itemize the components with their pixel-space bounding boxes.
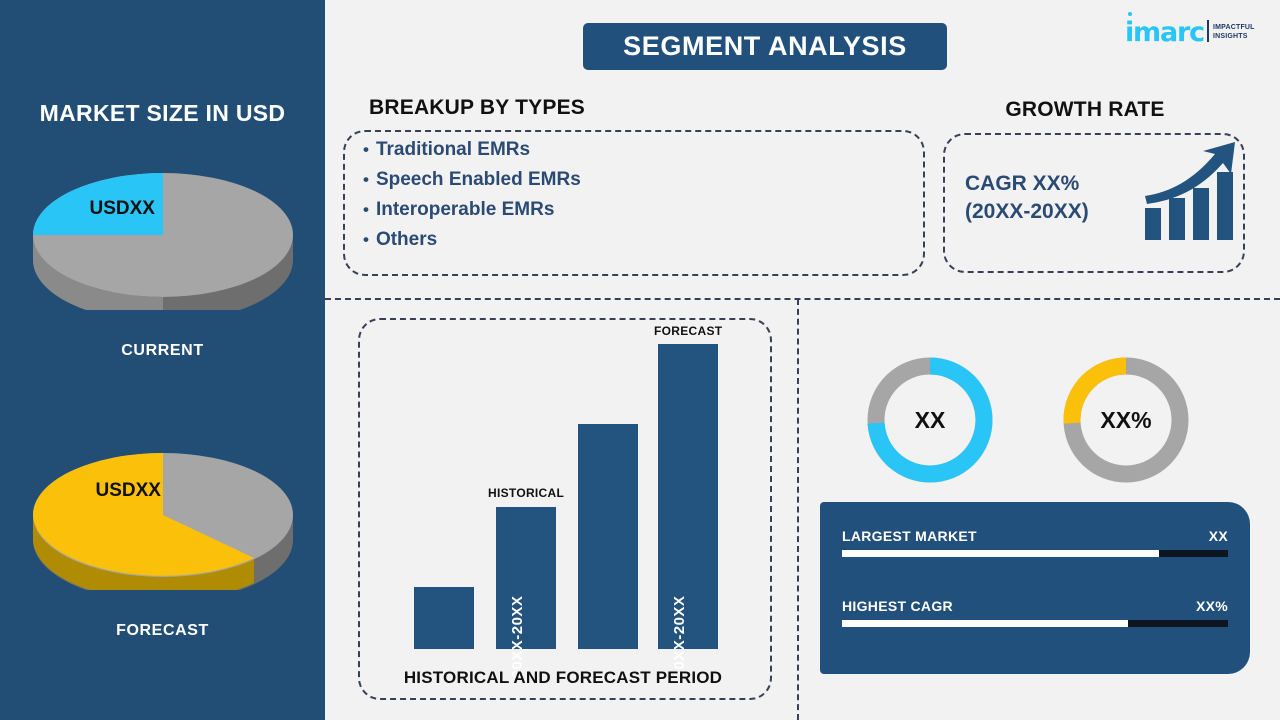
list-item-label: Speech Enabled EMRs (376, 170, 581, 189)
forecast-pie-label: FORECAST (0, 622, 325, 640)
bar-4-period-label: 20XX-20XX (671, 596, 688, 679)
bullet-icon: • (363, 231, 369, 248)
vertical-divider (797, 299, 799, 720)
list-item: • Speech Enabled EMRs (363, 170, 903, 189)
breakup-heading: BREAKUP BY TYPES (369, 96, 585, 120)
market-size-panel: MARKET SIZE IN USD USDXX CURRENT (0, 0, 325, 720)
logo-word: imarc (1125, 19, 1204, 46)
bullet-icon: • (363, 141, 369, 158)
bullet-icon: • (363, 171, 369, 188)
growth-share-donut-value: XX% (1058, 352, 1194, 488)
list-item-label: Traditional EMRs (376, 140, 530, 159)
list-item-label: Others (376, 230, 437, 249)
current-pie-group: USDXX CURRENT (0, 160, 325, 360)
bar-1 (414, 587, 474, 649)
market-share-donut-value: XX (862, 352, 998, 488)
stat-largest-market-track (842, 550, 1228, 557)
bar-3 (578, 424, 638, 649)
logo-tagline-line2: INSIGHTS (1213, 32, 1255, 41)
market-share-donut: XX (862, 352, 998, 488)
growth-rate-heading: GROWTH RATE (925, 98, 1245, 122)
imarc-logo: imarc IMPACTFUL INSIGHTS (1125, 12, 1270, 52)
current-pie-chart: USDXX (28, 160, 298, 310)
forecast-pie-group: USDXX FORECAST (0, 440, 325, 640)
current-pie-label: CURRENT (0, 342, 325, 360)
segment-analysis-infographic: MARKET SIZE IN USD USDXX CURRENT (0, 0, 1280, 720)
stat-largest-market: LARGEST MARKET XX (842, 528, 1228, 557)
cagr-period: (20XX-20XX) (965, 198, 1145, 226)
stat-largest-market-label: LARGEST MARKET (842, 528, 977, 544)
stat-highest-cagr: HIGHEST CAGR XX% (842, 598, 1228, 627)
list-item: • Traditional EMRs (363, 140, 903, 159)
growth-arrow-chart-icon (1143, 140, 1243, 250)
growth-share-donut: XX% (1058, 352, 1194, 488)
market-size-title: MARKET SIZE IN USD (0, 100, 325, 127)
page-title: SEGMENT ANALYSIS (583, 23, 947, 70)
horizontal-divider (325, 298, 1280, 300)
stat-highest-cagr-label: HIGHEST CAGR (842, 598, 953, 614)
stat-highest-cagr-track (842, 620, 1228, 627)
logo-dot-icon (1128, 12, 1132, 16)
breakup-list: • Traditional EMRs • Speech Enabled EMRs… (363, 140, 903, 260)
historical-forecast-bar-chart: 20XX-20XX HISTORICAL 20XX-20XX FORECAST … (358, 318, 768, 696)
main-panel: SEGMENT ANALYSIS imarc IMPACTFUL INSIGHT… (325, 0, 1280, 720)
key-stats-card: LARGEST MARKET XX HIGHEST CAGR XX% (820, 502, 1250, 674)
logo-wordmark: imarc (1125, 19, 1204, 46)
historical-annotation: HISTORICAL (488, 486, 564, 500)
forecast-pie-svg (28, 440, 298, 590)
chart-caption: HISTORICAL AND FORECAST PERIOD (358, 668, 768, 688)
forecast-pie-chart: USDXX (28, 440, 298, 590)
cagr-value: CAGR XX% (965, 170, 1145, 198)
stat-largest-market-value: XX (1209, 528, 1228, 544)
cagr-text: CAGR XX% (20XX-20XX) (965, 170, 1145, 225)
list-item: • Others (363, 230, 903, 249)
stat-highest-cagr-fill (842, 620, 1128, 627)
bar-2-period-label: 20XX-20XX (509, 596, 526, 679)
list-item-label: Interoperable EMRs (376, 200, 554, 219)
bullet-icon: • (363, 201, 369, 218)
bar-4: 20XX-20XX (658, 344, 718, 649)
logo-tagline: IMPACTFUL INSIGHTS (1213, 23, 1255, 42)
current-pie-svg (28, 160, 298, 310)
bar-2: 20XX-20XX (496, 507, 556, 649)
logo-tagline-line1: IMPACTFUL (1213, 23, 1255, 32)
stat-highest-cagr-value: XX% (1196, 598, 1228, 614)
logo-divider-bar (1207, 20, 1209, 42)
stat-largest-market-fill (842, 550, 1159, 557)
forecast-annotation: FORECAST (654, 324, 722, 338)
list-item: • Interoperable EMRs (363, 200, 903, 219)
